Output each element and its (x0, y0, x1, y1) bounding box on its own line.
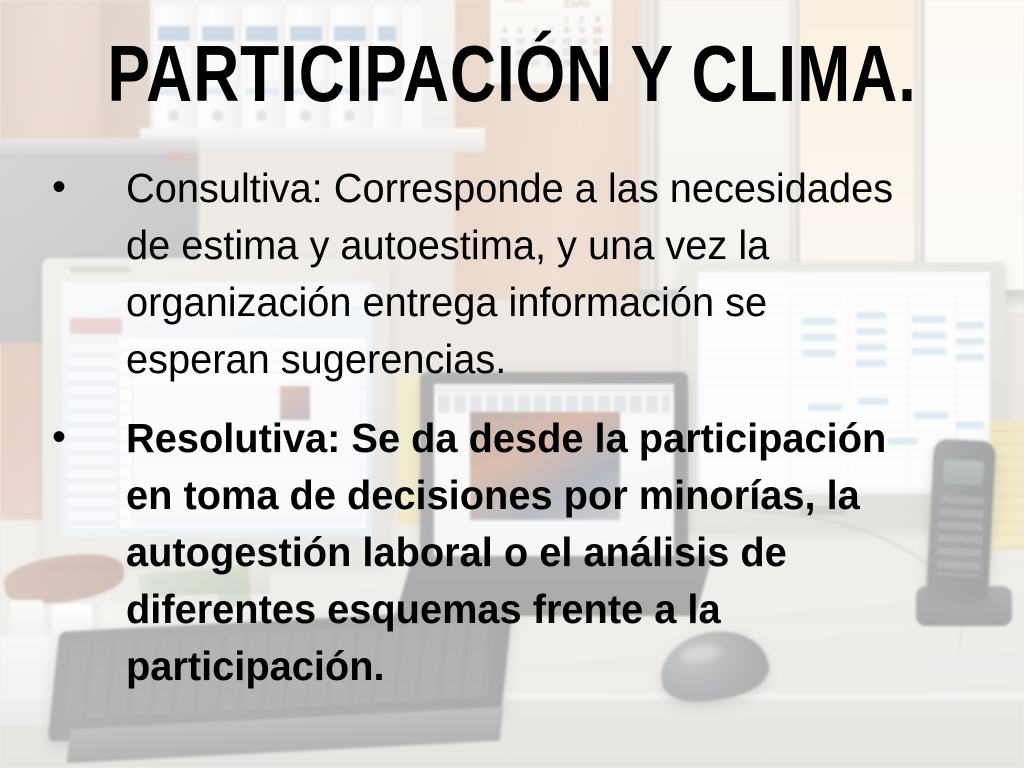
bullet-item: • Resolutiva: Se da desde la participaci… (46, 410, 946, 695)
bullet-text-consultiva: Consultiva: Corresponde a las necesidade… (126, 160, 921, 388)
bullet-text-resolutiva: Resolutiva: Se da desde la participación… (126, 410, 921, 695)
bullet-marker-icon: • (46, 410, 126, 464)
slide-body: • Consultiva: Corresponde a las necesida… (46, 160, 946, 709)
presentation-slide: 2012 Xuño 123456789101112131415161718192… (0, 0, 1024, 768)
bullet-marker-icon: • (46, 160, 126, 214)
slide-title: PARTICIPACIÓN Y CLIMA. (102, 34, 921, 114)
bullet-item: • Consultiva: Corresponde a las necesida… (46, 160, 946, 388)
